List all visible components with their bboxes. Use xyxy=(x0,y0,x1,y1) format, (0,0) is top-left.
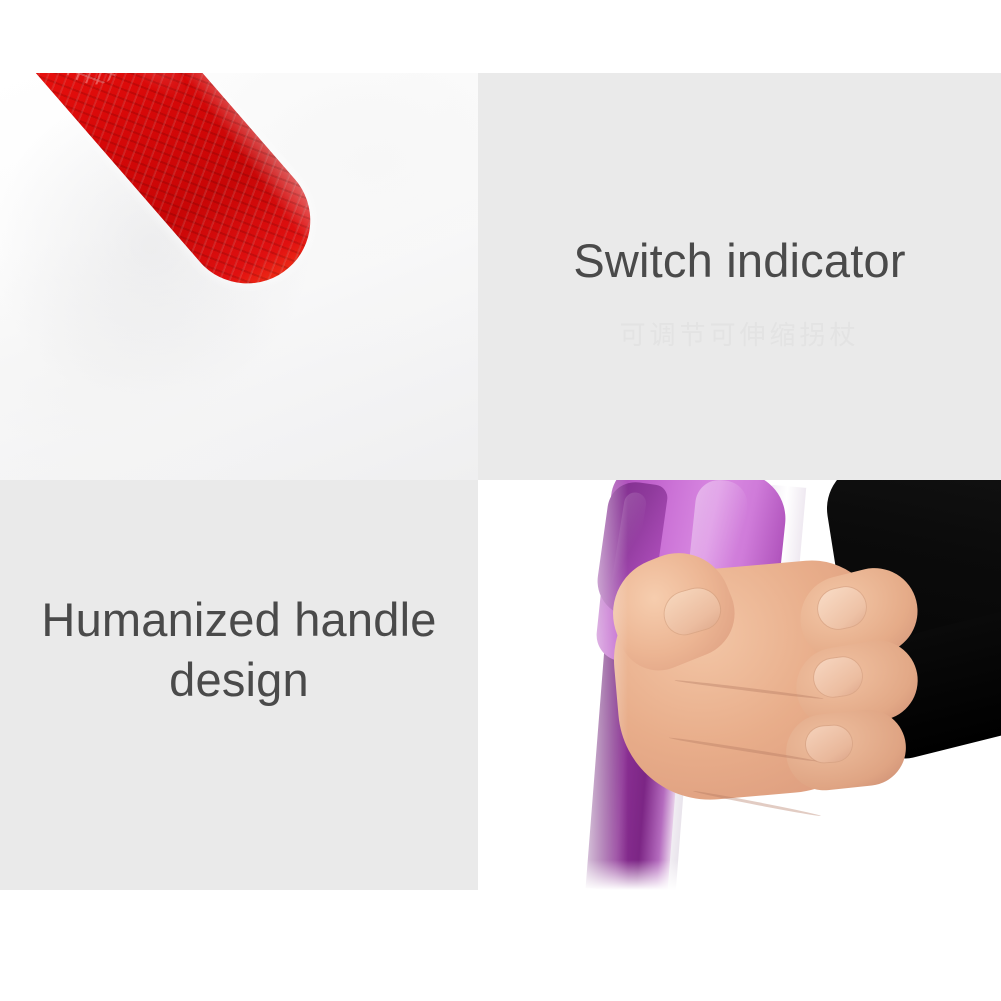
photo-bottom-white-fade xyxy=(478,860,1001,890)
reflector-photo-panel xyxy=(0,73,478,480)
product-feature-collage: Switch indicator 可调节可伸缩拐杖 Humanized hand… xyxy=(0,0,1001,1001)
hand-grip-photo-panel xyxy=(478,480,1001,890)
switch-indicator-panel: Switch indicator 可调节可伸缩拐杖 xyxy=(478,73,1001,480)
switch-indicator-caption: Switch indicator xyxy=(478,231,1001,291)
chinese-watermark-text: 可调节可伸缩拐杖 xyxy=(478,315,1001,352)
humanized-handle-panel: Humanized handle design xyxy=(0,480,478,890)
photo-left-white-fade xyxy=(478,480,628,890)
humanized-handle-caption: Humanized handle design xyxy=(0,590,478,710)
